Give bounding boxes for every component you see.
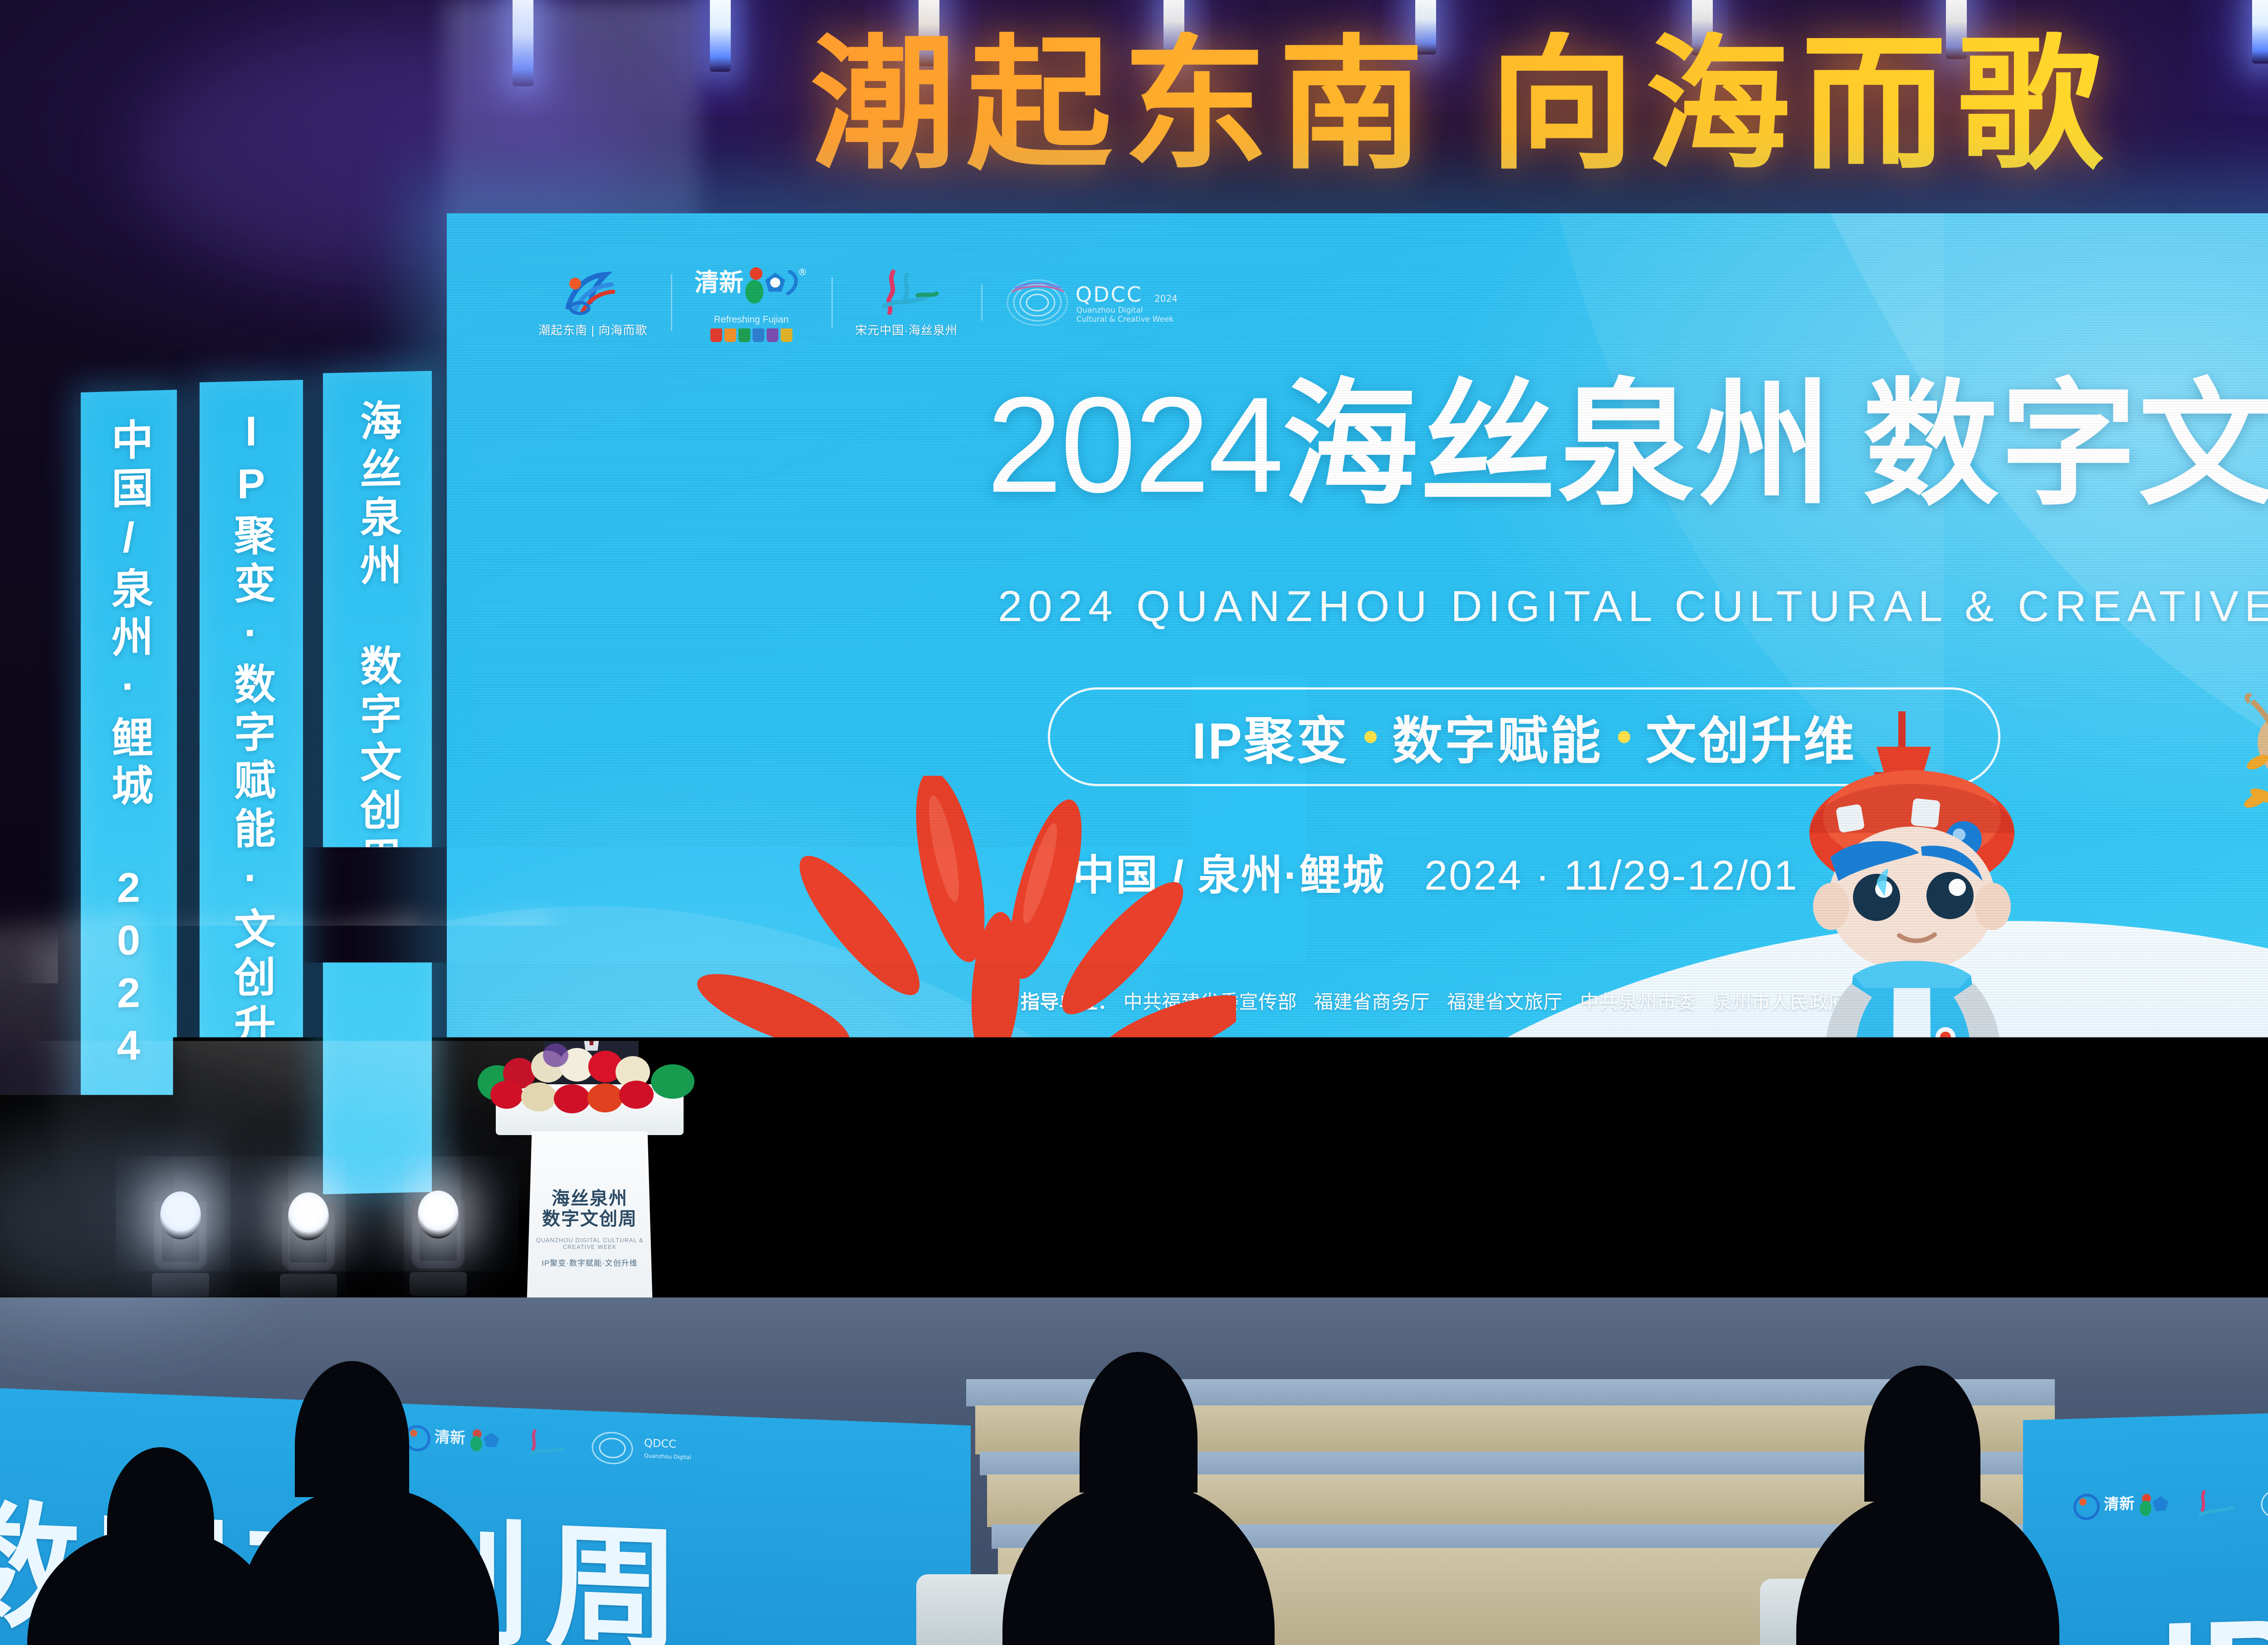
organizer-unit: 福建省文旅厅 [1447, 991, 1563, 1013]
logo-caption: 宋元中国·海丝泉州 [855, 321, 958, 338]
logo-songyuan-zhongguo: 宋元中国·海丝泉州 [831, 268, 981, 338]
title-year: 2024 [987, 368, 1282, 521]
organizer-unit: 福建省商务厅 [1314, 991, 1430, 1013]
temple-archway: 文庙 全方位道 北天佛地 [2239, 975, 2268, 1166]
flying-apsara-figure [2207, 612, 2268, 867]
logo-chaoqi-dongnan: 潮起东南 | 向海而歌 [515, 268, 671, 338]
moving-head-light [5, 1180, 57, 1293]
calligraphy-wave-icon [863, 268, 949, 318]
floor-banner-right-logos: 清新 QDCC Quanzhou Digital [2068, 1476, 2268, 1537]
svg-text:清新: 清新 [694, 268, 743, 297]
banner-left-3-text: 海丝泉州 数字文创周 [347, 399, 408, 886]
organizer-unit: 泉州市商务局 [1447, 1040, 1563, 1061]
fujian-flower-icon: 清新 ® [694, 263, 808, 313]
event-date: 2024 · 11/29-12/01 [1424, 852, 1799, 899]
main-led-screen: 潮起东南 | 向海而歌 清新 ® Refreshing Fujian [447, 213, 2268, 1316]
wave-ribbon-icon [559, 268, 627, 318]
organizer-unit: 中共泉州市委 [1580, 991, 1696, 1013]
svg-text:2024: 2024 [1154, 293, 1178, 304]
event-title-en: 2024 QUANZHOU DIGITAL CULTURAL & CREATIV… [998, 582, 2268, 632]
headline-left: 潮起东南 [811, 23, 1435, 186]
logo-qdcc-2024: QDCC 2024 Quanzhou Digital Cultural & Cr… [981, 278, 1219, 328]
svg-text:QDCC: QDCC [1075, 282, 1143, 307]
slogan-item-1: IP聚变 [1192, 700, 1349, 774]
title-cn-b: 数字文创周 [1862, 368, 2268, 521]
slogan-item-2: 数字赋能 [1392, 700, 1603, 774]
podium-slogan: IP聚变·数字赋能·文创升维 [524, 1257, 655, 1268]
organizer-unit: 泉州市工信局 [1314, 1040, 1430, 1061]
svg-text:Quanzhou Digital: Quanzhou Digital [644, 1453, 691, 1461]
svg-text:Cultural & Creative Week: Cultural & Creative Week [1076, 315, 1173, 324]
organizer-unit: 泉州市文旅局 [1580, 1040, 1696, 1061]
floor-banner-left-logos: 清新 QDCC Quanzhou Digital [399, 1417, 807, 1483]
event-title: 2024海丝泉州数字文创周 [987, 377, 2268, 513]
logo-caption: 潮起东南 | 向海而歌 [538, 321, 647, 338]
sponsor-logo-row: 潮起东南 | 向海而歌 清新 ® Refreshing Fujian [515, 263, 1219, 342]
svg-text:清新: 清新 [2104, 1495, 2135, 1514]
orange-lantern [2062, 1130, 2211, 1293]
svg-text:®: ® [798, 267, 807, 278]
slogan-dot-icon [1364, 731, 1377, 743]
slogan-dot-icon [1618, 731, 1630, 743]
flower-arrangement [474, 1041, 705, 1118]
podium-title: 海丝泉州 数字文创周 [524, 1189, 655, 1229]
podium-title-line2: 数字文创周 [542, 1209, 637, 1229]
title-cn-a: 海丝泉州 [1282, 368, 1833, 521]
floor-banner-right: IP 数字 清新 QDCC Quanzhou Digital [2023, 1395, 2268, 1645]
mascot-character [1762, 703, 2080, 1302]
qdcc-ripple-icon: QDCC 2024 Quanzhou Digital Cultural & Cr… [1005, 278, 1195, 328]
venue-headline: 潮起东南向海而歌 [0, 32, 2268, 177]
fujian-color-swatches [710, 328, 792, 342]
svg-text:清新: 清新 [435, 1428, 465, 1448]
moving-head-light [412, 1182, 464, 1296]
red-flower-illustration [669, 776, 1236, 1316]
svg-text:QDCC: QDCC [644, 1437, 676, 1451]
fish-kite-decor [1558, 1175, 1753, 1266]
floor-banner-right-text-a: IP [2159, 1585, 2268, 1645]
podium-title-en: QUANZHOU DIGITAL CULTURAL & CREATIVE WEE… [524, 1237, 655, 1250]
svg-text:Quanzhou Digital: Quanzhou Digital [1076, 306, 1143, 315]
logo-subcaption: Refreshing Fujian [714, 314, 789, 325]
podium-title-line1: 海丝泉州 [552, 1189, 628, 1209]
logo-refreshing-fujian: 清新 ® Refreshing Fujian [671, 263, 831, 342]
eyeglasses-icon [572, 967, 610, 975]
stage-scene: 潮起东南向海而歌 潮起东南 | [0, 0, 2268, 1645]
headline-right: 向海而歌 [1489, 23, 2113, 186]
